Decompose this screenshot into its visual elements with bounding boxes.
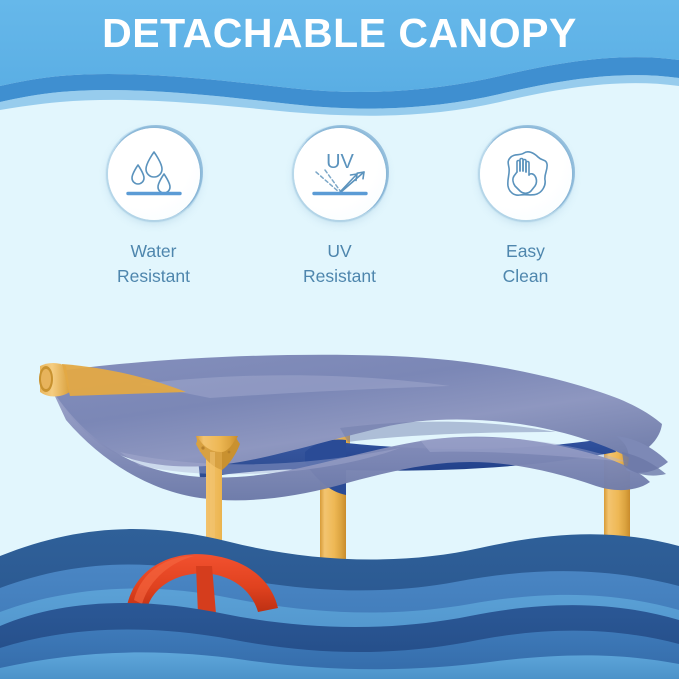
feature-water-resistant[interactable]: Water Resistant bbox=[61, 128, 247, 289]
product-feature-panel: DETACHABLE CANOPY Water Resistant bbox=[0, 0, 679, 679]
hand-wipe-icon bbox=[480, 128, 572, 220]
post-right bbox=[600, 406, 634, 668]
feature-label-easy-clean: Easy Clean bbox=[503, 239, 549, 289]
header-banner: DETACHABLE CANOPY bbox=[0, 0, 679, 118]
post-left bbox=[196, 436, 240, 660]
feature-uv-resistant[interactable]: UV UV Resistant bbox=[247, 128, 433, 289]
water-waves bbox=[0, 529, 679, 679]
feature-label-uv-resistant: UV Resistant bbox=[303, 239, 376, 289]
water-waves-front bbox=[0, 603, 679, 679]
page-title: DETACHABLE CANOPY bbox=[0, 9, 679, 57]
uv-reflect-icon-circle: UV bbox=[294, 128, 386, 220]
post-middle bbox=[316, 428, 350, 667]
feature-list: Water Resistant UV bbox=[0, 128, 679, 308]
canopy-fabric bbox=[39, 355, 668, 501]
feature-easy-clean[interactable]: Easy Clean bbox=[433, 128, 619, 289]
slide-arch bbox=[126, 554, 278, 614]
water-drop-icon bbox=[108, 128, 200, 220]
water-drop-icon-circle bbox=[108, 128, 200, 220]
hand-wipe-icon-circle bbox=[480, 128, 572, 220]
uv-reflect-icon: UV bbox=[294, 128, 386, 220]
feature-label-water-resistant: Water Resistant bbox=[117, 239, 190, 289]
uv-icon-text: UV bbox=[326, 151, 354, 173]
